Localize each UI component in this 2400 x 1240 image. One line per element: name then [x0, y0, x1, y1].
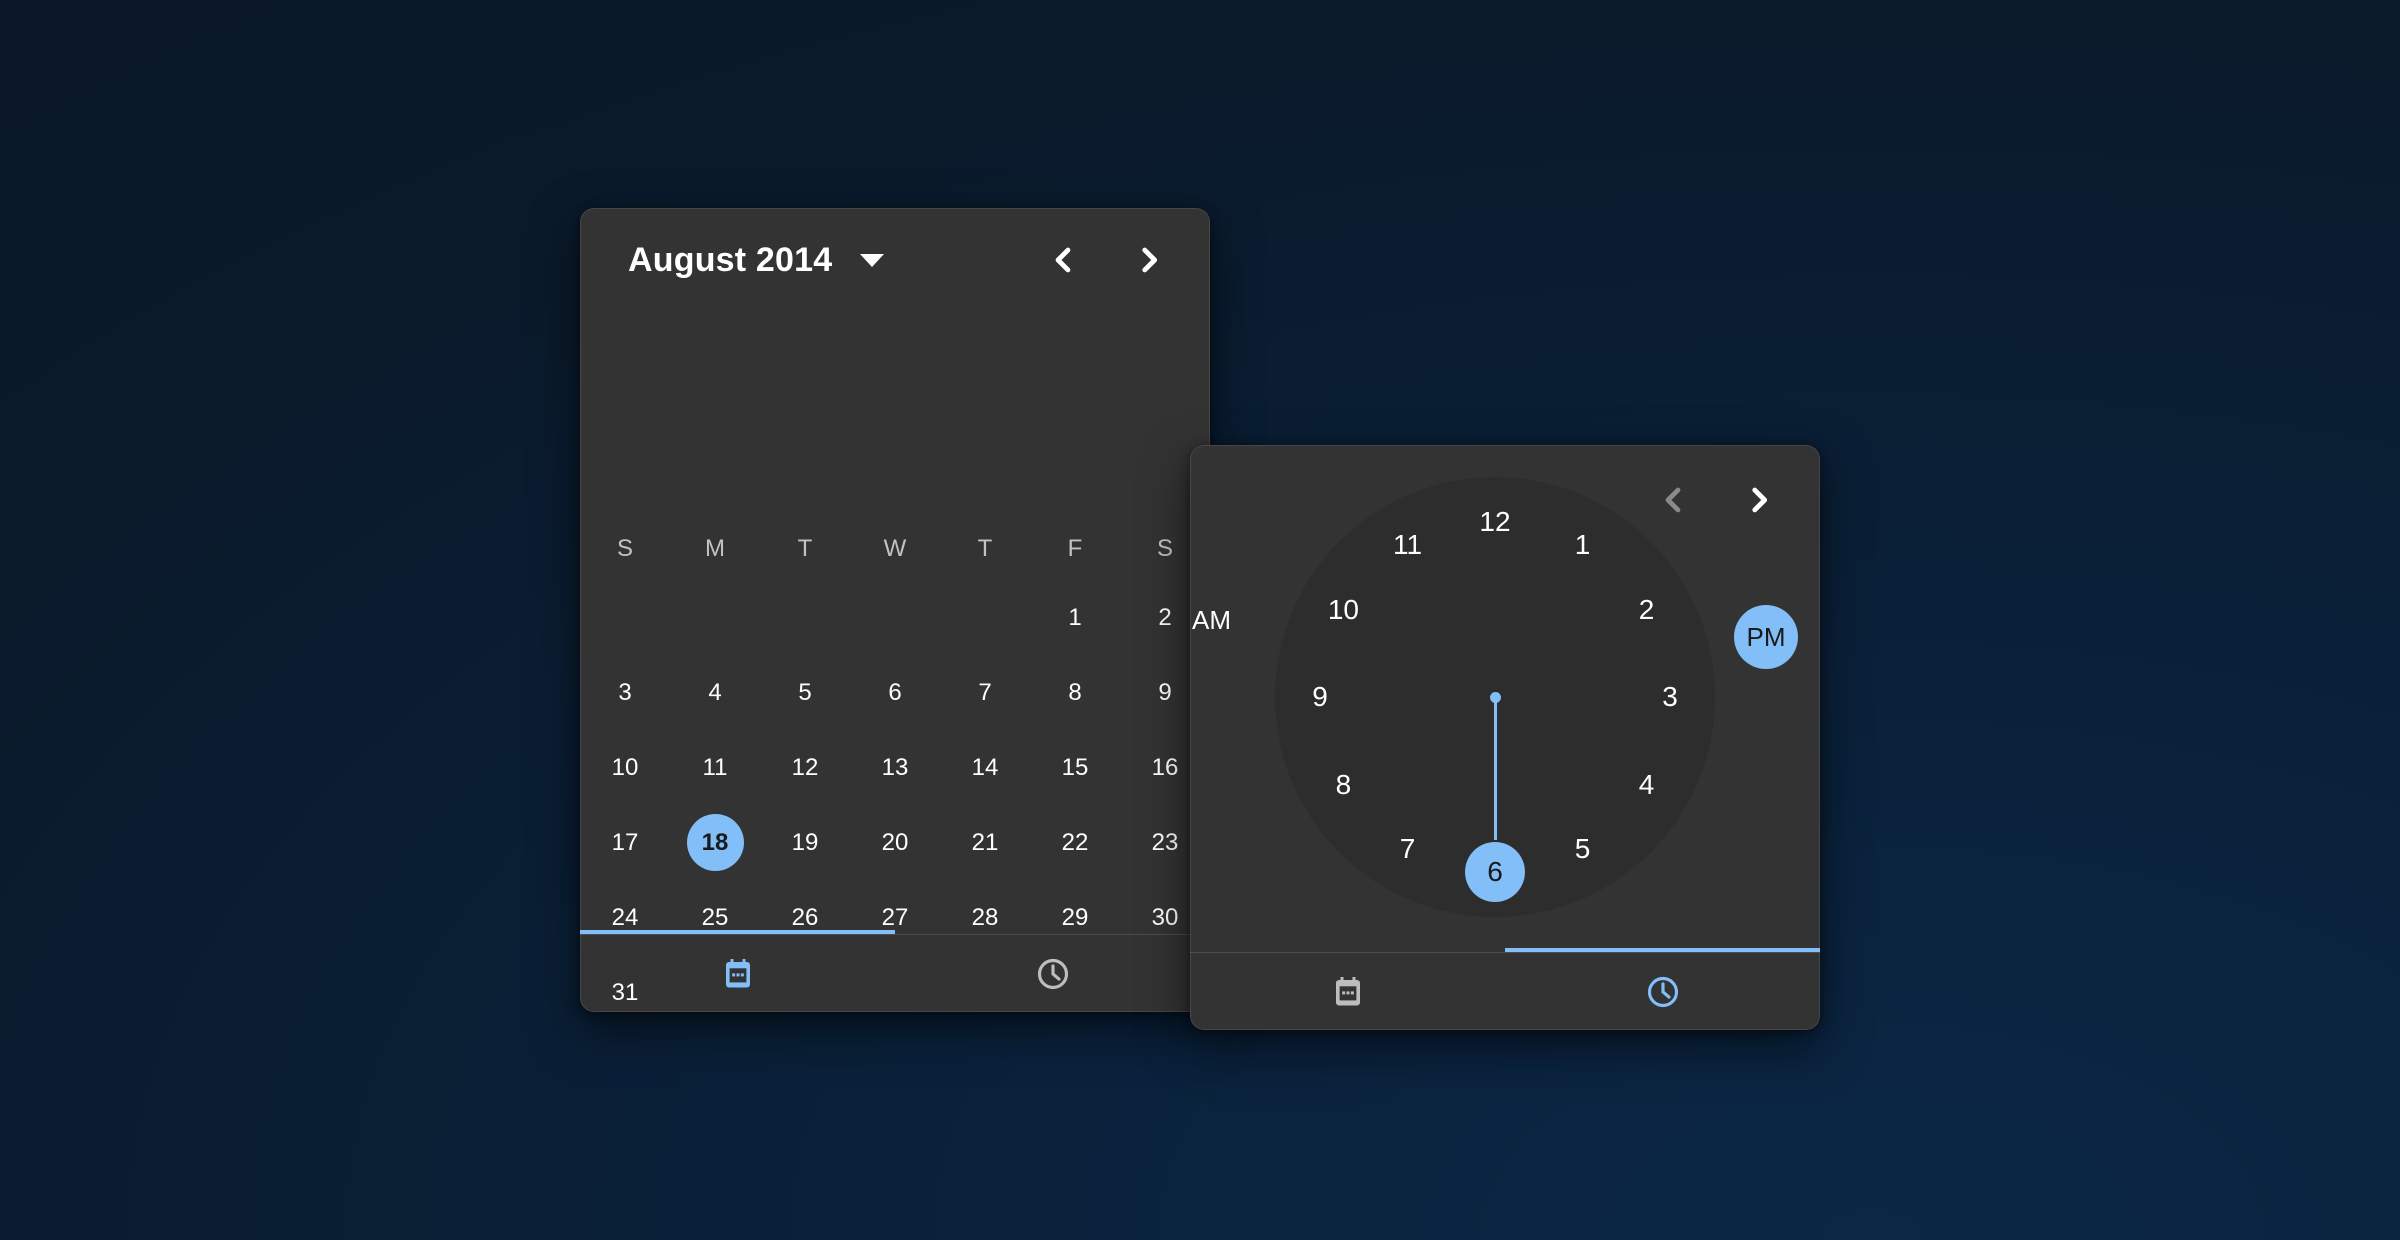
next-time-button[interactable]	[1742, 483, 1776, 517]
day-label: 18	[687, 814, 744, 871]
tab-time[interactable]	[1505, 953, 1820, 1030]
hour-6[interactable]: 6	[1465, 842, 1525, 902]
pm-label: PM	[1747, 622, 1786, 653]
week-row: 10111213141516	[580, 730, 1210, 805]
hour-10[interactable]: 10	[1313, 580, 1373, 640]
prev-time-button[interactable]	[1656, 483, 1690, 517]
weekday-label: W	[850, 534, 940, 564]
day-label: 4	[687, 664, 744, 721]
day-cell-empty	[850, 580, 940, 655]
prev-month-button[interactable]	[1046, 243, 1080, 277]
calendar-icon	[1330, 974, 1366, 1010]
hour-4[interactable]: 4	[1617, 755, 1677, 815]
day-label: 10	[597, 739, 654, 796]
week-row: 17181920212223	[580, 805, 1210, 880]
day-label: 14	[957, 739, 1014, 796]
pm-button[interactable]: PM	[1734, 605, 1798, 669]
day-label	[777, 589, 834, 646]
time-picker-tabbar	[1190, 952, 1820, 1030]
clock-face[interactable]: 121234567891011	[1275, 477, 1715, 917]
month-nav	[1046, 243, 1166, 277]
day-cell[interactable]: 21	[940, 805, 1030, 880]
weekday-header-row: SMTWTFS	[580, 534, 1210, 564]
day-label: 20	[867, 814, 924, 871]
clock-center-dot	[1490, 692, 1501, 703]
day-label: 5	[777, 664, 834, 721]
day-label: 17	[597, 814, 654, 871]
day-label: 12	[777, 739, 834, 796]
weekday-label: T	[940, 534, 1030, 564]
day-label: 15	[1047, 739, 1104, 796]
day-cell-empty	[670, 580, 760, 655]
day-cell[interactable]: 15	[1030, 730, 1120, 805]
day-cell[interactable]: 20	[850, 805, 940, 880]
day-cell[interactable]: 19	[760, 805, 850, 880]
day-label: 23	[1137, 814, 1194, 871]
tab-date[interactable]	[580, 935, 895, 1012]
day-cell[interactable]: 6	[850, 655, 940, 730]
time-picker-panel: 121234567891011 AM PM	[1190, 445, 1820, 1030]
am-button[interactable]: AM	[1192, 605, 1231, 636]
week-row: 12	[580, 580, 1210, 655]
day-label: 22	[1047, 814, 1104, 871]
day-cell-empty	[580, 580, 670, 655]
day-label: 6	[867, 664, 924, 721]
chevron-left-icon	[1046, 243, 1080, 277]
day-label: 19	[777, 814, 834, 871]
calendar-icon	[720, 956, 756, 992]
day-label: 7	[957, 664, 1014, 721]
day-cell[interactable]: 10	[580, 730, 670, 805]
hour-8[interactable]: 8	[1313, 755, 1373, 815]
hour-5[interactable]: 5	[1553, 819, 1613, 879]
hour-9[interactable]: 9	[1290, 667, 1350, 727]
day-label	[597, 589, 654, 646]
day-cell-empty	[940, 580, 1030, 655]
day-cell[interactable]: 18	[670, 805, 760, 880]
day-cell[interactable]: 4	[670, 655, 760, 730]
day-label: 21	[957, 814, 1014, 871]
tab-date[interactable]	[1190, 953, 1505, 1030]
day-cell-empty	[760, 580, 850, 655]
day-cell[interactable]: 7	[940, 655, 1030, 730]
day-label: 13	[867, 739, 924, 796]
app-root: August 2014 SMTWTFS 12345678910111213141…	[0, 0, 2400, 1240]
hour-1[interactable]: 1	[1553, 515, 1613, 575]
weekday-label: S	[580, 534, 670, 564]
caret-down-icon	[860, 254, 884, 267]
day-cell[interactable]: 8	[1030, 655, 1120, 730]
day-label: 9	[1137, 664, 1194, 721]
hour-12[interactable]: 12	[1465, 492, 1525, 552]
day-label	[957, 589, 1014, 646]
chevron-right-icon	[1742, 483, 1776, 517]
weekday-label: T	[760, 534, 850, 564]
weekday-label: F	[1030, 534, 1120, 564]
day-cell[interactable]: 1	[1030, 580, 1120, 655]
clock-hand	[1494, 697, 1497, 840]
hour-3[interactable]: 3	[1640, 667, 1700, 727]
day-label: 16	[1137, 739, 1194, 796]
clock-icon	[1035, 956, 1071, 992]
day-label: 3	[597, 664, 654, 721]
day-cell[interactable]: 11	[670, 730, 760, 805]
day-cell[interactable]: 12	[760, 730, 850, 805]
time-nav	[1656, 483, 1776, 517]
day-cell[interactable]: 17	[580, 805, 670, 880]
chevron-right-icon	[1132, 243, 1166, 277]
date-picker-header: August 2014	[580, 208, 1210, 312]
day-cell[interactable]: 14	[940, 730, 1030, 805]
next-month-button[interactable]	[1132, 243, 1166, 277]
am-label: AM	[1192, 605, 1231, 636]
hour-7[interactable]: 7	[1378, 819, 1438, 879]
week-row: 3456789	[580, 655, 1210, 730]
date-picker-tabbar	[580, 934, 1210, 1012]
day-cell[interactable]: 3	[580, 655, 670, 730]
tab-time[interactable]	[895, 935, 1210, 1012]
day-label	[867, 589, 924, 646]
day-cell[interactable]: 13	[850, 730, 940, 805]
day-label: 8	[1047, 664, 1104, 721]
month-year-selector[interactable]: August 2014	[628, 241, 884, 280]
chevron-left-icon	[1656, 483, 1690, 517]
date-picker-panel: August 2014 SMTWTFS 12345678910111213141…	[580, 208, 1210, 1012]
hour-2[interactable]: 2	[1617, 580, 1677, 640]
month-year-label: August 2014	[628, 241, 832, 280]
clock-icon	[1645, 974, 1681, 1010]
day-cell[interactable]: 5	[760, 655, 850, 730]
day-label	[687, 589, 744, 646]
day-label: 11	[687, 739, 744, 796]
day-cell[interactable]: 22	[1030, 805, 1120, 880]
day-label: 1	[1047, 589, 1104, 646]
weekday-label: M	[670, 534, 760, 564]
hour-11[interactable]: 11	[1378, 515, 1438, 575]
day-label: 2	[1137, 589, 1194, 646]
